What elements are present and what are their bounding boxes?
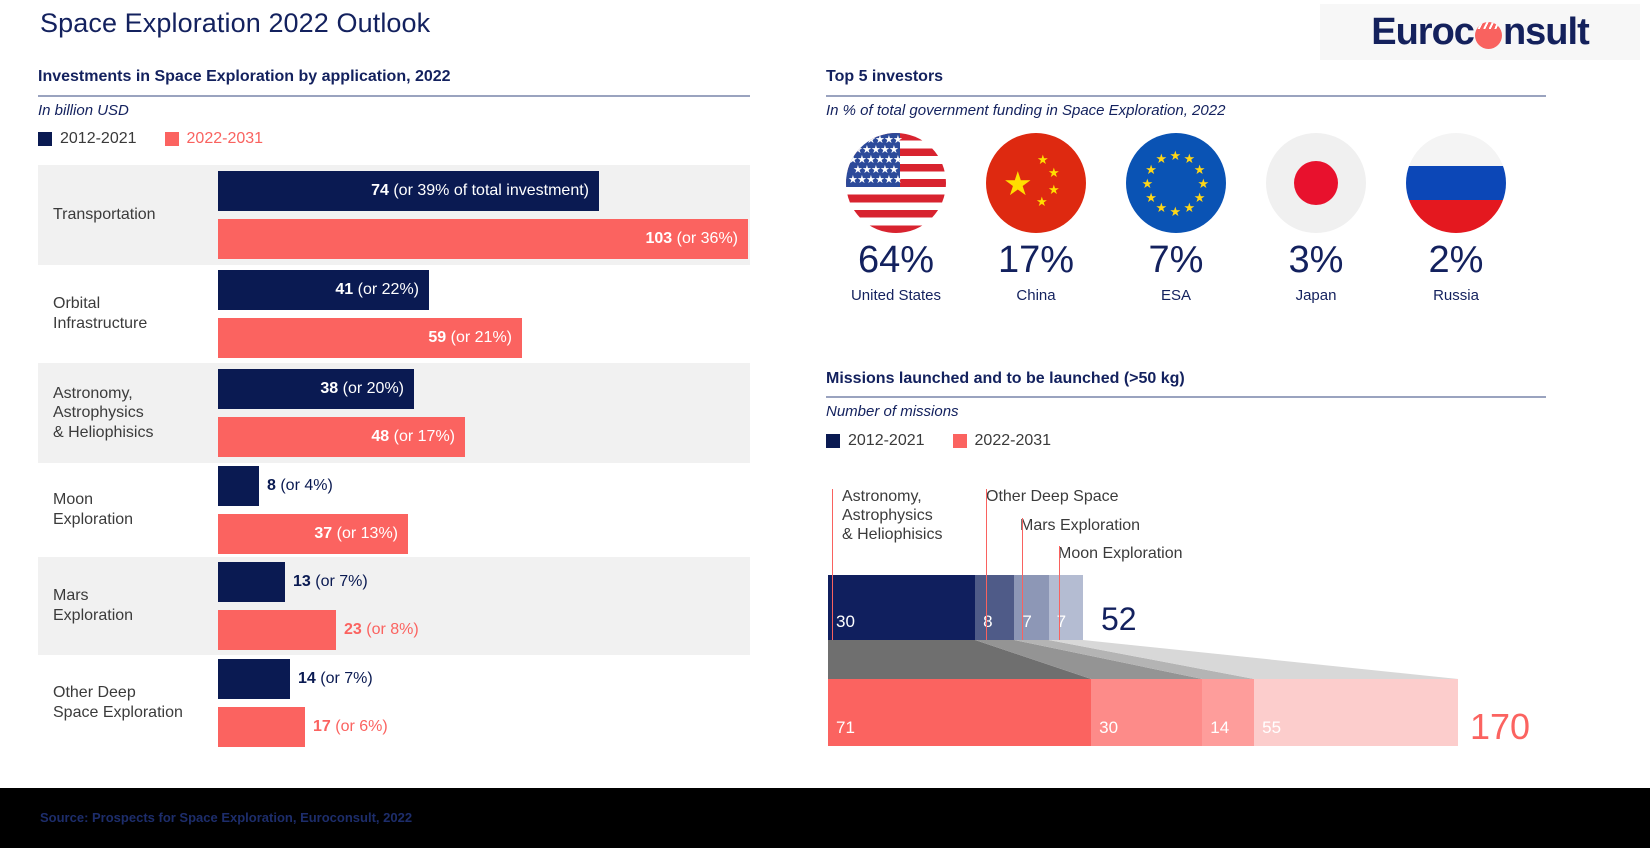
- legend-swatch-navy-icon: [38, 132, 52, 146]
- funnel-leader-line: [1059, 546, 1060, 640]
- bar-row-category-label: Astronomy,Astrophysics& Heliophisics: [38, 384, 218, 443]
- investments-heading: Investments in Space Exploration by appl…: [38, 68, 451, 86]
- missions-legend-label-future: 2022-2031: [975, 432, 1052, 450]
- funnel-annotation-label: Moon Exploration: [1058, 544, 1183, 563]
- legend-item-2022-2031: 2022-2031: [165, 130, 264, 148]
- missions-subtitle: Number of missions: [826, 403, 959, 420]
- investor-country-label: China: [966, 287, 1106, 304]
- funnel-bottom-segment: 14: [1202, 679, 1254, 746]
- investor-column: 2%Russia: [1386, 133, 1526, 304]
- bar-row: OrbitalInfrastructure41 (or 22%)59 (or 2…: [38, 265, 750, 363]
- funnel-top-segment: 7: [1014, 575, 1048, 640]
- eu-flag-icon: ★★★★★★★★★★★★: [1126, 133, 1226, 233]
- bar-2022-2031: 17 (or 6%): [218, 707, 305, 747]
- legend-swatch-salmon-icon: [165, 132, 179, 146]
- funnel-total-future: 170: [1470, 709, 1530, 745]
- bar-2012-2021: 13 (or 7%): [218, 562, 285, 602]
- bar-row: MarsExploration13 (or 7%)23 (or 8%): [38, 557, 750, 655]
- bar-row-plot: 8 (or 4%)37 (or 13%): [218, 463, 750, 557]
- investments-bar-chart: Transportation74 (or 39% of total invest…: [38, 165, 750, 750]
- legend-item-2012-2021: 2012-2021: [38, 130, 137, 148]
- investor-country-label: Japan: [1246, 287, 1386, 304]
- bar-row-plot: 41 (or 22%)59 (or 21%): [218, 265, 750, 363]
- funnel-segment-value: 14: [1202, 718, 1229, 746]
- bar-row-category-label: MarsExploration: [38, 586, 218, 625]
- salmon-circle-icon: [1475, 22, 1502, 49]
- investor-column: ★★★★★★★★★★★★★★★★★★★★★★★★★★★★64%United St…: [826, 133, 966, 304]
- missions-legend-item-past: 2012-2021: [826, 432, 925, 450]
- legend-swatch-salmon-icon: [953, 434, 967, 448]
- bar-row: Astronomy,Astrophysics& Heliophisics38 (…: [38, 363, 750, 463]
- legend-label-past: 2012-2021: [60, 130, 137, 148]
- page-title: Space Exploration 2022 Outlook: [40, 8, 430, 39]
- us-flag-icon: ★★★★★★★★★★★★★★★★★★★★★★★★★★★★: [846, 133, 946, 233]
- japan-flag-icon: [1266, 133, 1366, 233]
- missions-legend-label-past: 2012-2021: [848, 432, 925, 450]
- investments-rule: [38, 95, 750, 97]
- euroconsult-logo: Euroc nsult: [1320, 4, 1640, 60]
- funnel-total-past: 52: [1101, 603, 1137, 635]
- investments-legend: 2012-2021 2022-2031: [38, 130, 263, 148]
- investors-subtitle: In % of total government funding in Spac…: [826, 102, 1225, 119]
- bar-value-label: 13 (or 7%): [293, 573, 368, 591]
- bar-value-label: 38 (or 20%): [320, 380, 404, 398]
- bar-2022-2031: 59 (or 21%): [218, 318, 522, 358]
- bar-2022-2031: 23 (or 8%): [218, 610, 336, 650]
- investor-column: 3%Japan: [1246, 133, 1386, 304]
- funnel-top-segment: 7: [1049, 575, 1083, 640]
- investor-percentage: 7%: [1106, 241, 1246, 279]
- logo-text-left: Euroc: [1371, 13, 1474, 51]
- funnel-leader-line: [1022, 518, 1023, 640]
- legend-swatch-navy-icon: [826, 434, 840, 448]
- bar-row-category-label: Other DeepSpace Exploration: [38, 683, 218, 722]
- funnel-leader-line: [832, 489, 833, 640]
- investor-country-label: Russia: [1386, 287, 1526, 304]
- investor-country-label: ESA: [1106, 287, 1246, 304]
- bar-row: MoonExploration8 (or 4%)37 (or 13%): [38, 463, 750, 557]
- funnel-segment-value: 55: [1254, 718, 1281, 746]
- bar-value-label: 74 (or 39% of total investment): [371, 182, 589, 200]
- funnel-top-segment: 8: [975, 575, 1014, 640]
- missions-legend-item-future: 2022-2031: [953, 432, 1052, 450]
- bar-value-label: 103 (or 36%): [646, 230, 739, 248]
- funnel-segment-value: 30: [1091, 718, 1118, 746]
- russia-flag-icon: [1406, 133, 1506, 233]
- missions-heading: Missions launched and to be launched (>5…: [826, 370, 1185, 388]
- investments-subtitle: In billion USD: [38, 102, 129, 119]
- investor-column: ★★★★★17%China: [966, 133, 1106, 304]
- funnel-annotation-label: Mars Exploration: [1020, 516, 1140, 535]
- bar-2012-2021: 41 (or 22%): [218, 270, 429, 310]
- funnel-annotation-label: Astronomy,Astrophysics& Heliophisics: [842, 487, 942, 545]
- bar-row-category-label: Transportation: [38, 205, 218, 225]
- bar-value-label: 41 (or 22%): [335, 281, 419, 299]
- bar-value-label: 23 (or 8%): [344, 621, 419, 639]
- bar-row-plot: 38 (or 20%)48 (or 17%): [218, 363, 750, 463]
- source-note: Source: Prospects for Space Exploration,…: [40, 810, 412, 825]
- bar-2012-2021: 8 (or 4%): [218, 466, 259, 506]
- funnel-top-segment: 30: [828, 575, 975, 640]
- funnel-leader-line: [986, 489, 987, 640]
- bar-2012-2021: 38 (or 20%): [218, 369, 414, 409]
- china-flag-icon: ★★★★★: [986, 133, 1086, 233]
- investor-percentage: 2%: [1386, 241, 1526, 279]
- bar-2012-2021: 14 (or 7%): [218, 659, 290, 699]
- funnel-segment-value: 71: [828, 718, 855, 746]
- funnel-segment-value: 8: [975, 612, 992, 640]
- bar-value-label: 17 (or 6%): [313, 718, 388, 736]
- bar-row-plot: 74 (or 39% of total investment)103 (or 3…: [218, 165, 750, 265]
- funnel-annotation-label: Other Deep Space: [986, 487, 1119, 506]
- investor-percentage: 17%: [966, 241, 1106, 279]
- funnel-bottom-segment: 71: [828, 679, 1091, 746]
- bar-row: Transportation74 (or 39% of total invest…: [38, 165, 750, 265]
- investors-heading: Top 5 investors: [826, 68, 943, 86]
- bar-2012-2021: 74 (or 39% of total investment): [218, 171, 599, 211]
- bar-row-plot: 13 (or 7%)23 (or 8%): [218, 557, 750, 655]
- legend-label-future: 2022-2031: [187, 130, 264, 148]
- bar-row-category-label: MoonExploration: [38, 490, 218, 529]
- investor-column: ★★★★★★★★★★★★7%ESA: [1106, 133, 1246, 304]
- bar-2022-2031: 48 (or 17%): [218, 417, 465, 457]
- bar-2022-2031: 103 (or 36%): [218, 219, 748, 259]
- logo-text-right: nsult: [1503, 13, 1589, 51]
- bar-row-category-label: OrbitalInfrastructure: [38, 294, 218, 333]
- funnel-segment-value: 7: [1014, 612, 1031, 640]
- funnel-segment-value: 7: [1049, 612, 1066, 640]
- funnel-bottom-segment: 30: [1091, 679, 1202, 746]
- investor-country-label: United States: [826, 287, 966, 304]
- bar-row-plot: 14 (or 7%)17 (or 6%): [218, 655, 750, 750]
- missions-funnel-chart: 308777130145552170Astronomy,Astrophysics…: [826, 487, 1556, 752]
- bar-2022-2031: 37 (or 13%): [218, 514, 408, 554]
- bar-value-label: 59 (or 21%): [428, 329, 512, 347]
- funnel-bottom-segment: 55: [1254, 679, 1458, 746]
- bar-value-label: 37 (or 13%): [314, 525, 398, 543]
- investor-percentage: 3%: [1246, 241, 1386, 279]
- bar-value-label: 14 (or 7%): [298, 670, 373, 688]
- investor-percentage: 64%: [826, 241, 966, 279]
- missions-rule: [826, 396, 1546, 398]
- bar-value-label: 8 (or 4%): [267, 477, 333, 495]
- footer-bar: Source: Prospects for Space Exploration,…: [0, 788, 1650, 848]
- bar-row: Other DeepSpace Exploration14 (or 7%)17 …: [38, 655, 750, 750]
- missions-legend: 2012-2021 2022-2031: [826, 432, 1051, 450]
- bar-value-label: 48 (or 17%): [371, 428, 455, 446]
- investors-rule: [826, 95, 1546, 97]
